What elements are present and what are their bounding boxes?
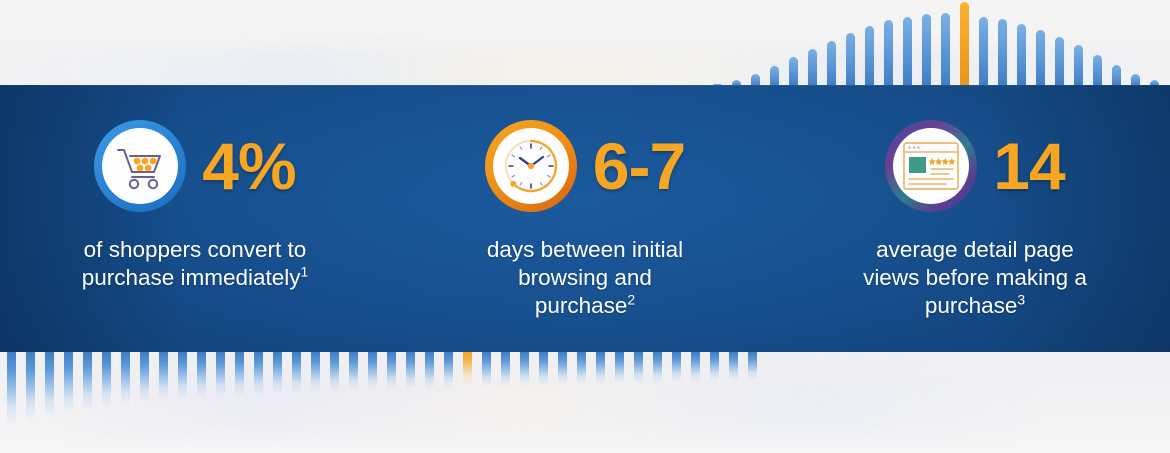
stat-caption: average detail page views before making … (863, 236, 1087, 320)
stat-caption-line-2: views before making a (863, 265, 1087, 290)
stat-value: 14 (993, 133, 1064, 199)
stat-header: 14 (885, 118, 1064, 214)
shopping-cart-icon (94, 120, 186, 212)
background-tint-bottom (40, 375, 1050, 435)
stat-caption: days between initial browsing and purcha… (487, 236, 683, 320)
stat-footnote: 2 (627, 291, 635, 307)
background-tint-top (0, 48, 1170, 90)
stat-caption-line-1: of shoppers convert to (84, 237, 307, 262)
stat-caption-line-2: browsing and (518, 265, 652, 290)
stats-row: 4% of shoppers convert to purchase immed… (0, 85, 1170, 352)
stats-panel: 4% of shoppers convert to purchase immed… (0, 85, 1170, 352)
product-detail-page-icon (885, 120, 977, 212)
infographic-stage: 4% of shoppers convert to purchase immed… (0, 0, 1170, 453)
stat-caption-line-1: average detail page (876, 237, 1074, 262)
clock-glyph (500, 135, 562, 197)
clock-icon (485, 120, 577, 212)
stat-value: 4% (202, 133, 295, 199)
stat-header: 4% (94, 118, 295, 214)
detail-page-glyph (902, 141, 960, 191)
stat-caption-line-2: purchase immediately (82, 265, 301, 290)
stat-header: 6-7 (485, 118, 685, 214)
stat-footnote: 1 (301, 263, 309, 279)
stat-card-days-to-purchase: 6-7 days between initial browsing and pu… (390, 118, 780, 320)
stat-caption: of shoppers convert to purchase immediat… (82, 236, 309, 292)
stat-footnote: 3 (1017, 291, 1025, 307)
stat-card-detail-page-views: 14 average detail page views before maki… (780, 118, 1170, 320)
stat-caption-line-1: days between initial (487, 237, 683, 262)
stat-card-conversion-rate: 4% of shoppers convert to purchase immed… (0, 118, 390, 292)
stat-value: 6-7 (593, 133, 685, 199)
stat-caption-line-3: purchase (535, 293, 628, 318)
stat-caption-line-3: purchase (925, 293, 1018, 318)
shopping-cart-glyph (111, 137, 169, 195)
